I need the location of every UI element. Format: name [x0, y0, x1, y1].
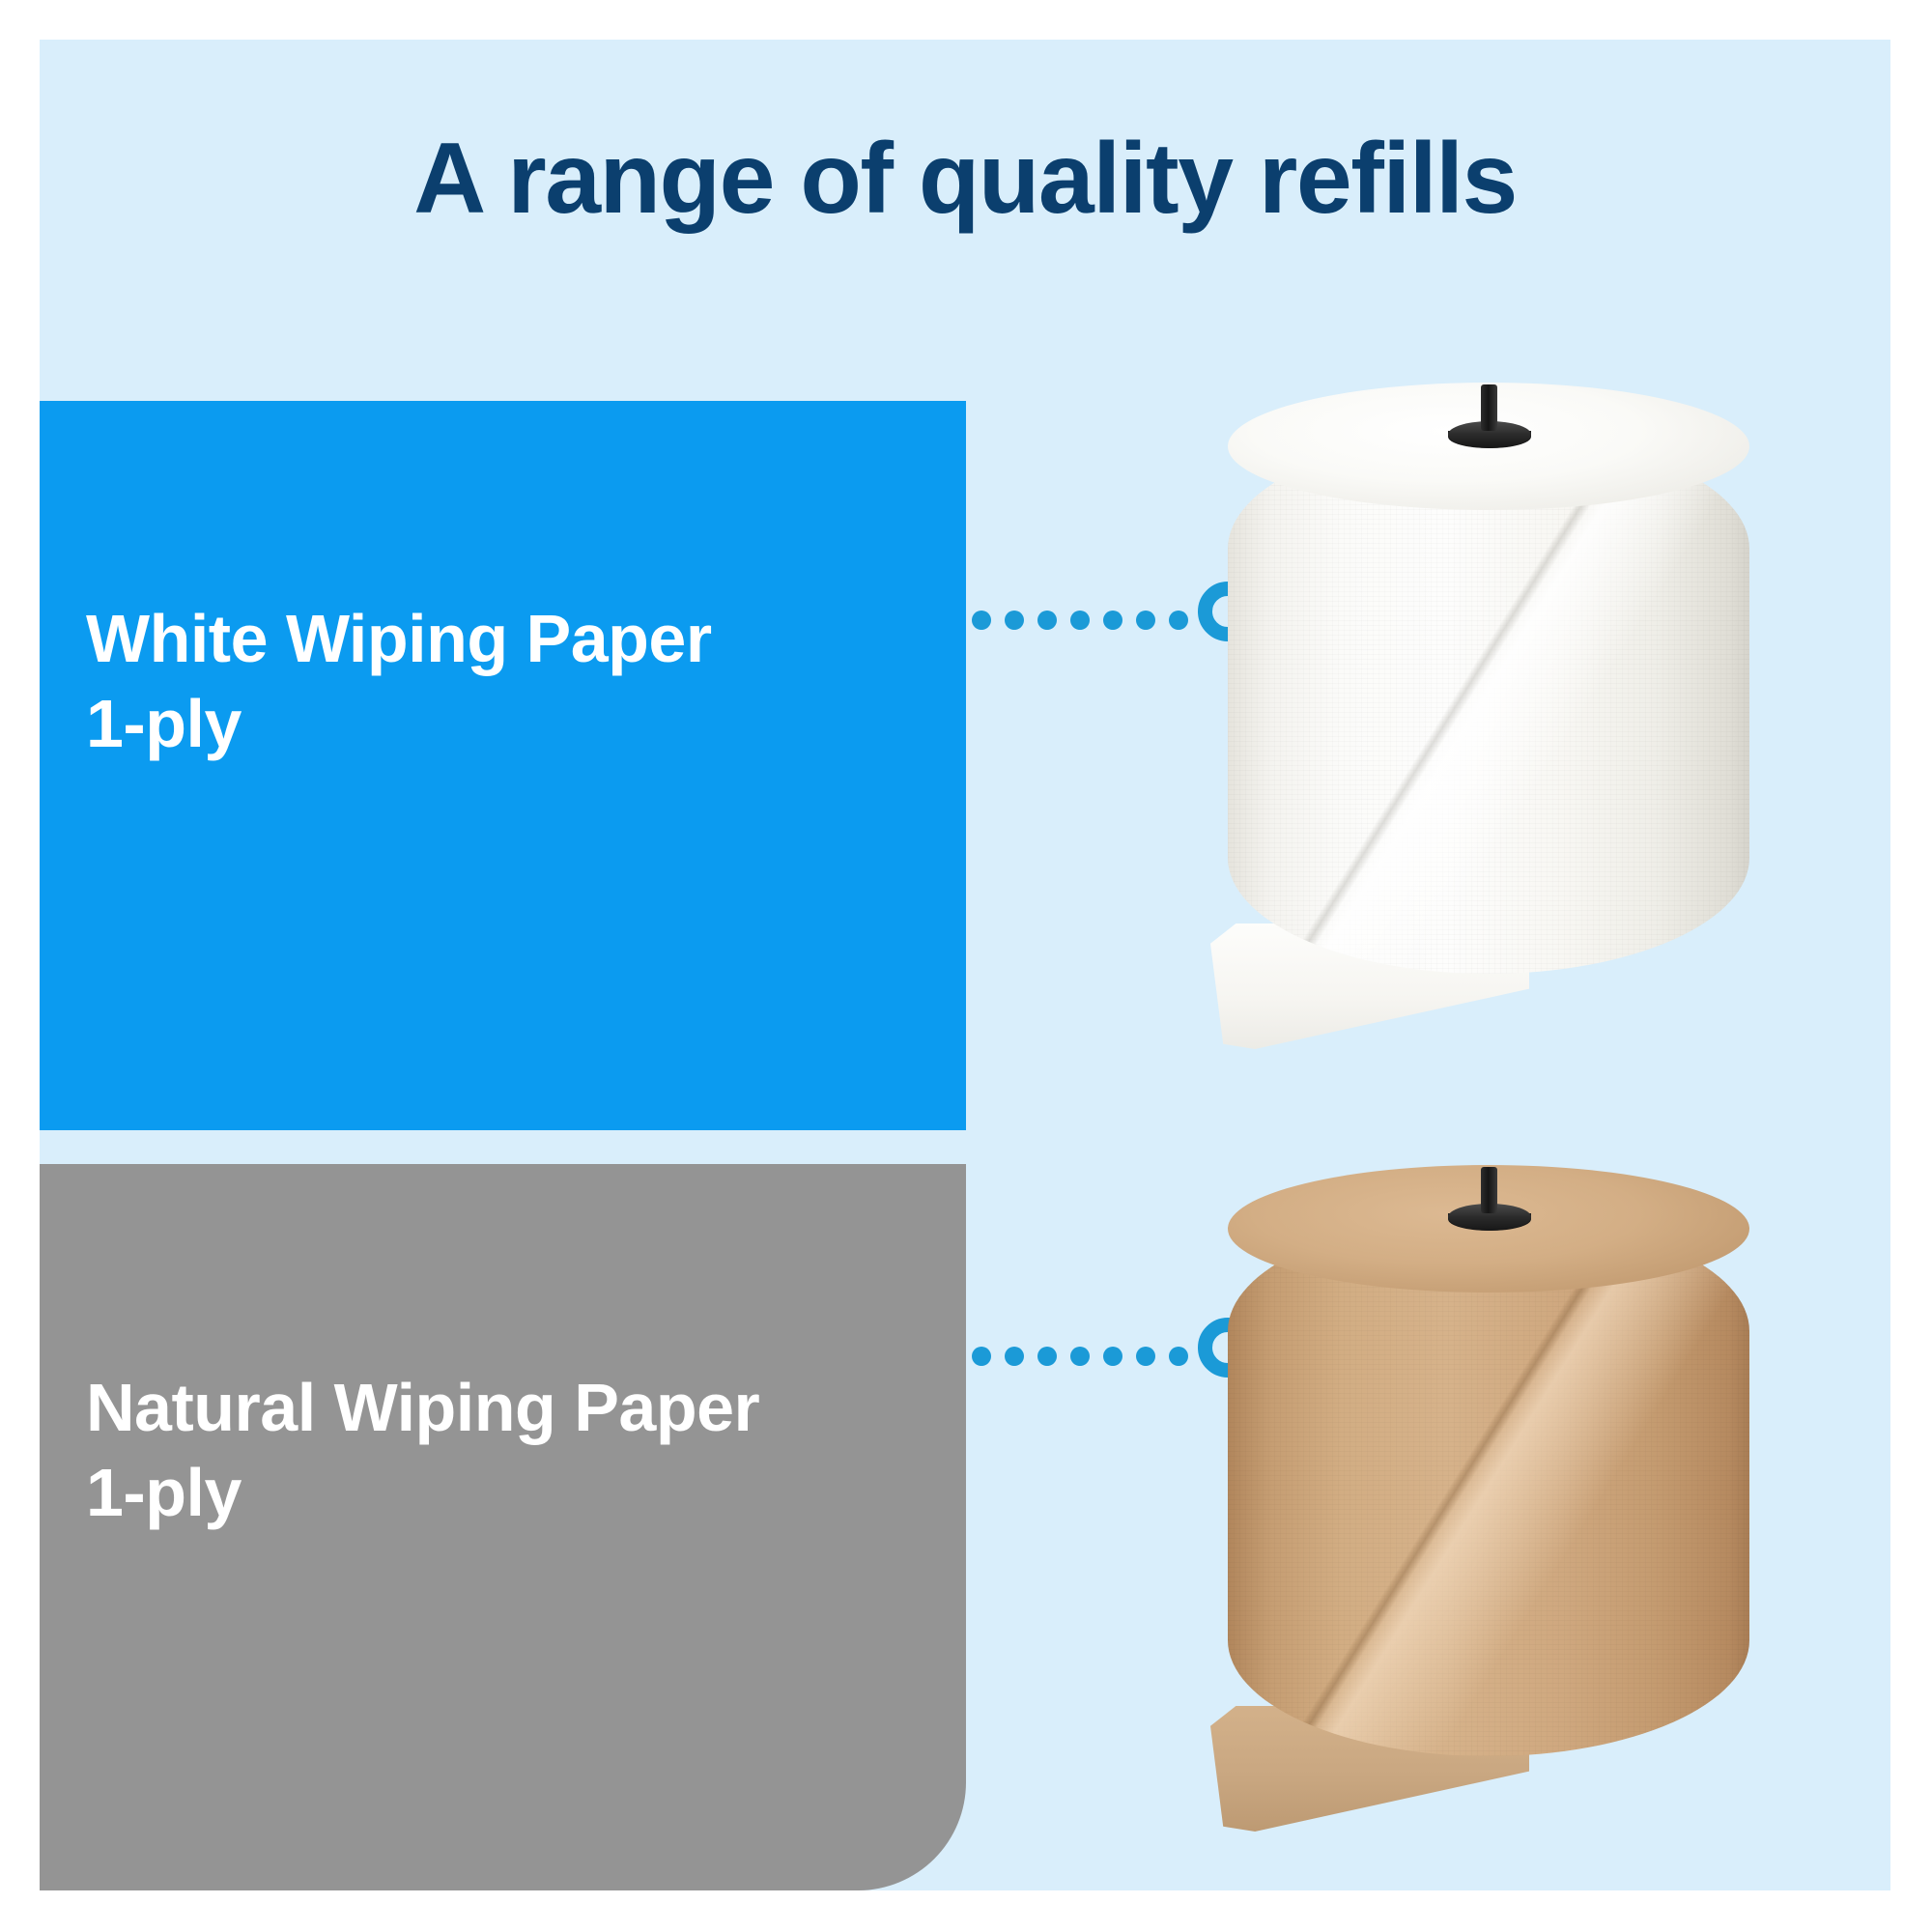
leader-dot	[1005, 1347, 1024, 1366]
paper-fold-seam	[1228, 433, 1749, 974]
leader-dot	[1169, 611, 1188, 630]
leader-dot	[1005, 611, 1024, 630]
product-panel-natural-wiping-paper[interactable]: Natural Wiping Paper 1-ply	[40, 1164, 966, 1890]
dotted-leader-line	[972, 611, 1180, 630]
product-label-white-wiping-paper: White Wiping Paper 1-ply	[86, 596, 712, 766]
leader-dot	[1103, 1347, 1122, 1366]
product-image-natural-wiping-paper	[1189, 1155, 1788, 1832]
leader-dot	[1037, 611, 1057, 630]
leader-dot	[1070, 1347, 1090, 1366]
leader-dot	[1037, 1347, 1057, 1366]
leader-dot	[1136, 611, 1155, 630]
product-panel-white-wiping-paper[interactable]: White Wiping Paper 1-ply	[40, 401, 966, 1130]
infographic-card: A range of quality refills White Wiping …	[40, 40, 1890, 1890]
page-title: A range of quality refills	[40, 127, 1890, 232]
roll-body	[1228, 433, 1749, 974]
leader-dot	[1070, 611, 1090, 630]
leader-dot	[972, 1347, 991, 1366]
product-image-white-wiping-paper	[1189, 373, 1788, 1049]
paper-fold-seam	[1228, 1215, 1749, 1756]
leader-dot	[1136, 1347, 1155, 1366]
product-label-natural-wiping-paper: Natural Wiping Paper 1-ply	[86, 1365, 759, 1535]
leader-dot	[1169, 1347, 1188, 1366]
dotted-leader-line	[972, 1347, 1180, 1366]
roll-body	[1228, 1215, 1749, 1756]
spindle-post	[1481, 384, 1497, 431]
infographic-root: A range of quality refills White Wiping …	[0, 0, 1932, 1932]
leader-dot	[972, 611, 991, 630]
leader-dot	[1103, 611, 1122, 630]
spindle-post	[1481, 1167, 1497, 1213]
